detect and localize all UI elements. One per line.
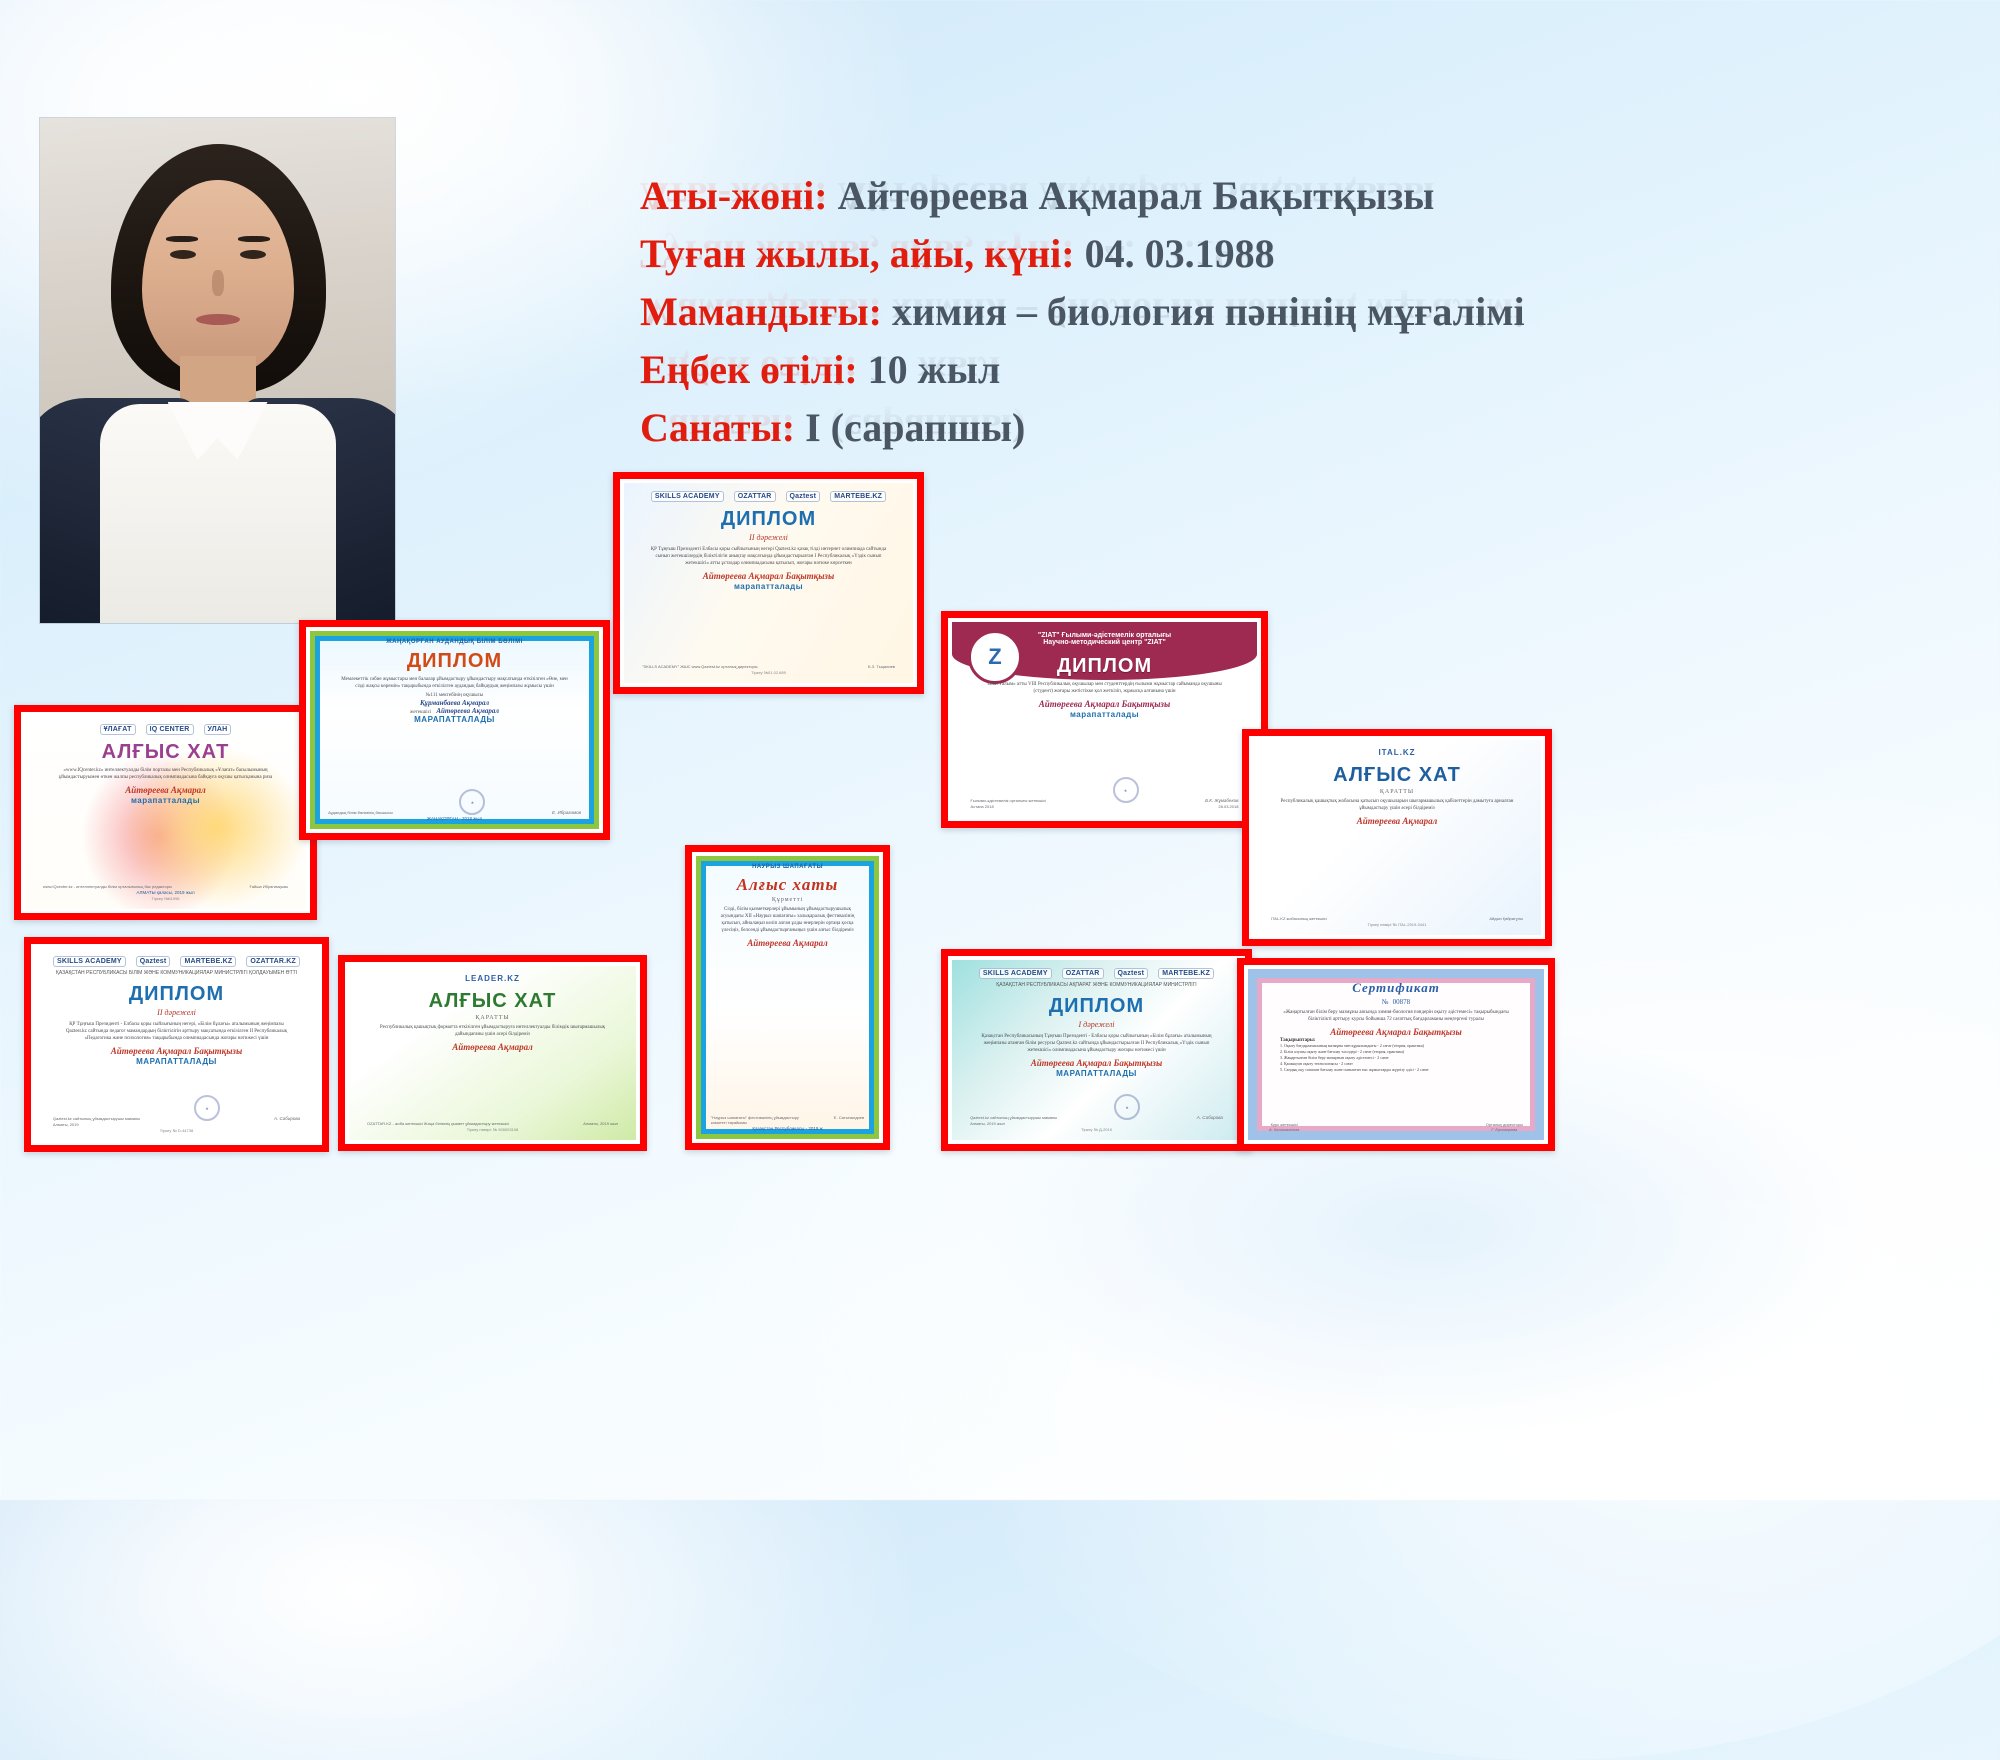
certificate-signatory-label: Аудандық білім бөлімінің басшысы [328, 810, 393, 815]
certificate-diplom-janakorgan[interactable]: ЖАҢАҚОРҒАН АУДАНДЫҚ БІЛІМ БӨЛІМІДИПЛОММе… [299, 620, 610, 840]
certificate-footer: "Наурыз шапағаты" фестивалінің ұйымдасты… [706, 1115, 869, 1131]
certificate-footer: Qaztest.kz сайтының ұйымдастырушы маманы… [45, 1095, 308, 1133]
certificate-topic-item: 5. Сандық оқу сапасын бағалау және сынып… [1280, 1067, 1429, 1073]
certificate-signatory-left: Курс жетекшісіА. Калимжанова [1269, 1122, 1299, 1132]
certificate-recipient-name: Айтөреева Ақмарал [747, 938, 828, 948]
certificate-awarded-word: марапатталады [734, 582, 803, 591]
certificate-title: ДИПЛОМ [407, 650, 502, 673]
certificate-layout: SKILLS ACADEMYQaztestMARTEBE.KZOZATTAR.K… [35, 948, 318, 1141]
certificate-sertifikat[interactable]: Сертификат№00878«Жаңартылған білім беру … [1237, 958, 1555, 1151]
certificate-body-text: Республикалық қашықтық форматта өткізілг… [375, 1024, 610, 1038]
certificate-body-text: Республикалық қашықтық жобасына қатысып … [1279, 798, 1515, 812]
certificate-content: SKILLS ACADEMYOZATTARQaztestMARTEBE.KZДИ… [624, 483, 913, 683]
certificate-footer-left: www.IQcenter.kz - интеллектуалды білім о… [43, 884, 172, 889]
teacher-portrait-photo [40, 118, 395, 623]
certificate-footer: OZATTAR.KZ - жоба жетекшісі Жаңа білімні… [359, 1121, 626, 1132]
certificate-footer-left: "SKILLS ACADEMY" ЖШС www.Qaztest.kz орта… [642, 664, 757, 669]
certificate-header-line: ЖАҢАҚОРҒАН АУДАНДЫҚ БІЛІМ БӨЛІМІ [386, 639, 522, 645]
certificate-leader-row: жетекшісіАйтөреева Ақмарал [410, 707, 499, 715]
logo-ozattar: OZATTAR [734, 491, 776, 502]
certificate-footer-right: 28.03.2018 [1218, 804, 1238, 809]
info-value-5: I (сарапшы) [805, 405, 1025, 450]
certificate-footer-row: www.IQcenter.kz - интеллектуалды білім о… [43, 884, 288, 889]
certificate-recipient-name: Айтөреева Ақмарал Бақытқызы [1330, 1027, 1461, 1037]
logo-skills-academy: SKILLS ACADEMY [979, 968, 1052, 979]
logo-ital-kz: ITAL.KZ [1378, 748, 1415, 757]
certificate-serial-number: Тіркеу нөмірі № ITAL-2019-0441 [1368, 922, 1427, 927]
certificate-awarded-word: МАРАПАТТАЛАДЫ [136, 1057, 217, 1066]
info-label-5: Санаты: [640, 405, 795, 450]
certificate-recipient-name: Айтөреева Ақмарал Бақытқызы [111, 1046, 242, 1056]
certificate-recipient-name: Айтөреева Ақмарал Бақытқызы [1031, 1058, 1162, 1068]
certificate-footer-right: Алматы, 2019 жыл [583, 1121, 618, 1126]
certificate-content: ҰЛАҒАТIQ CENTERУЛАНАЛҒЫС ХАТ«www.IQcente… [25, 716, 306, 909]
certificate-body-text: «www.IQcenter.kz» интеллектуалды білім п… [51, 767, 281, 781]
certificate-footer-left: Алматы, 2019 жыл [970, 1121, 1005, 1126]
certificate-footer-left: "Наурыз шапағаты" фестивалінің ұйымдасты… [711, 1115, 806, 1125]
certificate-body-text: Қазақстан Республикасының Тұңғыш Президе… [978, 1033, 1215, 1054]
certificate-footer: Ғылыми-әдістемелік орталығы жетекшісі★Б.… [962, 777, 1247, 809]
certificate-subtitle: Құрметті [772, 897, 803, 903]
logo-qaztest: Qaztest [136, 956, 171, 967]
certificate-number-value: 00878 [1393, 998, 1411, 1006]
certificate-signatory-name: Б.К. Жұмабеков [1205, 798, 1238, 803]
certificate-ministry-line: ҚАЗАҚСТАН РЕСПУБЛИКАСЫ БІЛІМ ЖӘНЕ КОММУН… [56, 970, 297, 977]
certificate-algys-khat-iqcenter[interactable]: ҰЛАҒАТIQ CENTERУЛАНАЛҒЫС ХАТ«www.IQcente… [14, 705, 317, 920]
certificate-subtitle: ҚАРАТТЫ [475, 1015, 509, 1021]
official-seal-icon: ★ [459, 789, 485, 815]
certificate-layout: SKILLS ACADEMYOZATTARQaztestMARTEBE.KZҚА… [952, 960, 1241, 1140]
certificate-diplom-skills-academy-ii-bottom[interactable]: SKILLS ACADEMYQaztestMARTEBE.KZOZATTAR.K… [24, 937, 329, 1152]
certificate-signatory-label: Qaztest.kz сайтының ұйымдастырушы маманы [970, 1115, 1057, 1120]
certificate-layout: НАУРЫЗ ШАПАҒАТЫАлғыс хатыҚұрметтіСізді, … [696, 856, 879, 1139]
certificate-footer: Курс жетекшісіА. КалимжановаОрталық дире… [1258, 1122, 1534, 1132]
certificate-recipient-name: Айтөреева Ақмарал Бақытқызы [703, 571, 834, 581]
certificate-serial-number: Тіркеу нөмірі: № 928003108 [467, 1127, 518, 1132]
certificate-layout: "ZIAT" Ғылыми-әдістемелік орталығыНаучно… [952, 622, 1257, 817]
info-line-5: Санаты: I (сарапшы)Санаты: I (сарапшы) [640, 402, 1980, 454]
certificate-content: LEADER.KZАЛҒЫС ХАТҚАРАТТЫРеспубликалық қ… [349, 966, 636, 1140]
logo-ozattar: OZATTAR [1062, 968, 1104, 979]
certificate-recipient-name: Айтөреева Ақмарал [452, 1042, 533, 1052]
certificate-title: АЛҒЫС ХАТ [1333, 764, 1461, 787]
certificate-footer-row: Алматы, 2019 жыл [970, 1121, 1223, 1126]
logo-leader-kz: LEADER.KZ [465, 974, 520, 983]
certificate-topic-list: 1. Оқыту бағдарламасының мазмұны мен құр… [1280, 1043, 1429, 1073]
certificate-serial-number: Тіркеу №61996 [151, 896, 179, 901]
certificate-signature-row: Qaztest.kz сайтының ұйымдастырушы маманы… [53, 1095, 300, 1121]
official-seal-icon: ★ [1113, 777, 1139, 803]
certificate-title: ДИПЛОМ [1049, 995, 1144, 1018]
certificate-signatory-right: Орталық директорыГ. Ерназарова [1486, 1122, 1523, 1132]
certificate-body-text: «Жаңартылған білім беру мазмұны аясында … [1275, 1009, 1518, 1023]
logo-martebe-kz: MARTEBE.KZ [180, 956, 236, 967]
certificate-footer: www.IQcenter.kz - интеллектуалды білім о… [35, 884, 296, 901]
certificate-title: ДИПЛОМ [1057, 655, 1152, 678]
certificate-degree: I дәрежелі [1078, 1020, 1114, 1029]
certificate-awarded-word: МАРАПАТТАЛАДЫ [1056, 1069, 1137, 1078]
certificate-title: ДИПЛОМ [721, 508, 816, 531]
certificate-serial-number: Тіркеу № Д-2019 [1081, 1127, 1112, 1132]
logo-ozattar-kz: OZATTAR.KZ [246, 956, 300, 967]
certificate-recipient-name: Айтөреева Ақмарал Бақытқызы [1039, 699, 1170, 709]
certificate-recipient-name: Айтөреева Ақмарал [1357, 816, 1438, 826]
certificate-content: Сертификат№00878«Жаңартылған білім беру … [1248, 969, 1544, 1140]
certificate-content: ЖАҢАҚОРҒАН АУДАНДЫҚ БІЛІМ БӨЛІМІДИПЛОММе… [310, 631, 599, 829]
certificate-signatory-name: А. Сабирова [274, 1116, 300, 1121]
certificate-footer: ITAL.KZ жобасының жетекшісіАйдын Қайратұ… [1263, 916, 1531, 927]
certificate-header-ru: Научно-методический центр "ZIAT" [1043, 639, 1166, 646]
certificate-signature-row-dual: Курс жетекшісіА. КалимжановаОрталық дире… [1269, 1122, 1523, 1132]
info-value-2: 04. 03.1988 [1085, 231, 1275, 276]
certificate-logo-strip: SKILLS ACADEMYOZATTARQaztestMARTEBE.KZ [979, 968, 1214, 979]
certificate-layout: ЖАҢАҚОРҒАН АУДАНДЫҚ БІЛІМ БӨЛІМІДИПЛОММе… [310, 631, 599, 829]
certificate-body-text: ҚР Тұңғыш Президенті - Елбасы қоры сыйлы… [61, 1021, 292, 1042]
info-line-2: Туған жылы, айы, күні: 04. 03.1988Туған … [640, 228, 1980, 280]
certificate-signature-row: Ғылыми-әдістемелік орталығы жетекшісі★Б.… [971, 777, 1239, 803]
certificate-body-text: ҚР Тұңғыш Президенті Елбасы қоры сыйлығы… [650, 546, 887, 567]
logo-iq-center: IQ CENTER [146, 724, 194, 735]
certificate-degree: II дәрежелі [749, 533, 788, 542]
certificate-subtitle: ҚАРАТТЫ [1380, 789, 1414, 795]
certificate-footer-row: OZATTAR.KZ - жоба жетекшісі Жаңа білімні… [367, 1121, 618, 1126]
certificate-logo-strip: SKILLS ACADEMYOZATTARQaztestMARTEBE.KZ [651, 491, 886, 502]
certificate-body-text: «Жас ғалым» атты VIII Республикалық оқуш… [979, 681, 1230, 695]
info-line-1: Аты-жөні: Айтөреева Ақмарал БақытқызыАты… [640, 170, 1980, 222]
certificate-layout: SKILLS ACADEMYOZATTARQaztestMARTEBE.KZДИ… [624, 483, 913, 683]
info-value-4: 10 жыл [868, 347, 1001, 392]
certificate-signatory-label: Qaztest.kz сайтының ұйымдастырушы маманы [53, 1116, 140, 1121]
info-line-4: Еңбек өтілі: 10 жылЕңбек өтілі: 10 жыл [640, 344, 1980, 396]
certificate-footer-row: "Наурыз шапағаты" фестивалінің ұйымдасты… [711, 1115, 864, 1125]
certificate-diplom-skills-academy-i[interactable]: SKILLS ACADEMYOZATTARQaztestMARTEBE.KZҚА… [941, 949, 1252, 1151]
certificate-title: Алғыс хаты [737, 875, 839, 895]
certificate-title: АЛҒЫС ХАТ [102, 741, 230, 764]
certificate-footer-left: Алматы, 2019 [53, 1122, 79, 1127]
info-line-3: Мамандығы: химия – биология пәнінің мұға… [640, 286, 1980, 338]
info-label-3: Мамандығы: [640, 289, 882, 334]
official-seal-icon: ★ [194, 1095, 220, 1121]
certificate-content: ITAL.KZАЛҒЫС ХАТҚАРАТТЫРеспубликалық қаш… [1253, 740, 1541, 935]
info-label-4: Еңбек өтілі: [640, 347, 858, 392]
logo-qaztest: Qaztest [1114, 968, 1149, 979]
certificate-awarded-word: МАРАПАТТАЛАДЫ [414, 715, 495, 724]
certificate-footer: Аудандық білім бөлімінің басшысы★Е. Ибра… [320, 789, 589, 821]
certificate-layout: ҰЛАҒАТIQ CENTERУЛАНАЛҒЫС ХАТ«www.IQcente… [25, 716, 306, 909]
certificate-title: АЛҒЫС ХАТ [429, 990, 557, 1013]
certificate-degree: II дәрежелі [157, 1008, 196, 1017]
info-value-1: Айтөреева Ақмарал Бақытқызы [838, 173, 1435, 218]
certificate-body-text: Мемлекеттік сәбие жұмыстары мен балалар … [336, 676, 573, 690]
logo--: УЛАН [204, 724, 232, 735]
certificate-recipient-name: Айтөреева Ақмарал [125, 785, 206, 795]
certificate-algys-khaty-nauryz-shapagaty[interactable]: НАУРЫЗ ШАПАҒАТЫАлғыс хатыҚұрметтіСізді, … [685, 845, 890, 1150]
certificate-algys-khat-leader-kz[interactable]: LEADER.KZАЛҒЫС ХАТҚАРАТТЫРеспубликалық қ… [338, 955, 647, 1151]
certificate-diplom-ziat[interactable]: Z"ZIAT" Ғылыми-әдістемелік орталығыНаучн… [941, 611, 1268, 828]
certificate-signatory-label: Ғылыми-әдістемелік орталығы жетекшісі [971, 798, 1047, 803]
certificate-layout: Сертификат№00878«Жаңартылған білім беру … [1248, 969, 1544, 1140]
certificate-layout: LEADER.KZАЛҒЫС ХАТҚАРАТТЫРеспубликалық қ… [349, 966, 636, 1140]
certificate-footer-center: ЖАҢАҚОРҒАН - 2018 жыл [427, 816, 482, 821]
logo-skills-academy: SKILLS ACADEMY [53, 956, 126, 967]
certificate-header-kk: "ZIAT" Ғылыми-әдістемелік орталығы [1038, 632, 1171, 639]
logo-martebe-kz: MARTEBE.KZ [1158, 968, 1214, 979]
certificate-footer-left: OZATTAR.KZ - жоба жетекшісі Жаңа білімні… [367, 1121, 509, 1126]
certificate-ministry-line: ҚАЗАҚСТАН РЕСПУБЛИКАСЫ АҚПАРАТ ЖӘНЕ КОММ… [996, 982, 1196, 989]
certificate-diplom-skills-academy-ii[interactable]: SKILLS ACADEMYOZATTARQaztestMARTEBE.KZДИ… [613, 472, 924, 694]
certificate-header-line: НАУРЫЗ ШАПАҒАТЫ [752, 864, 823, 870]
certificate-footer: "SKILLS ACADEMY" ЖШС www.Qaztest.kz орта… [634, 664, 903, 675]
logo--: ҰЛАҒАТ [100, 724, 136, 735]
certificate-field-school: №111 мектебінің оқушысы [426, 692, 483, 699]
certificate-footer-row: Астана 201828.03.2018 [971, 804, 1239, 809]
certificate-signatory-left-name: А. Калимжанова [1269, 1127, 1299, 1132]
certificate-logo-strip: SKILLS ACADEMYQaztestMARTEBE.KZOZATTAR.K… [53, 956, 300, 967]
certificate-footer-right: Е. Сатыпалдиев [834, 1115, 864, 1125]
certificate-signatory-name: А. Сабирова [1197, 1115, 1223, 1120]
certificate-footer-row: ITAL.KZ жобасының жетекшісіАйдын Қайратұ… [1271, 916, 1523, 921]
certificate-serial-number: Тіркеу № D-44738 [160, 1128, 193, 1133]
certificate-content: SKILLS ACADEMYOZATTARQaztestMARTEBE.KZҚА… [952, 960, 1241, 1140]
certificate-footer-center: АЛМАТЫ қаласы, 2019 жыл [136, 890, 194, 895]
certificate-footer-right: Айдын Қайратұлы [1489, 916, 1523, 921]
certificate-signatory-name: Е. Ибрагимов [552, 810, 581, 815]
certificate-content: SKILLS ACADEMYQaztestMARTEBE.KZOZATTAR.K… [35, 948, 318, 1141]
certificate-footer-right: Ғайша Ибрагимқызы [250, 884, 289, 889]
certificate-awarded-word: марапатталады [131, 796, 200, 805]
certificate-serial-number: Тіркеу №01.02.689 [751, 670, 786, 675]
certificate-content: Z"ZIAT" Ғылыми-әдістемелік орталығыНаучн… [952, 622, 1257, 817]
logo-skills-academy: SKILLS ACADEMY [651, 491, 724, 502]
info-value-3: химия – биология пәнінің мұғалімі [892, 289, 1525, 334]
teacher-info-block: Аты-жөні: Айтөреева Ақмарал БақытқызыАты… [640, 170, 1980, 460]
certificate-footer-row: Алматы, 2019 [53, 1122, 300, 1127]
certificate-footer-left: Астана 2018 [971, 804, 994, 809]
logo-qaztest: Qaztest [786, 491, 821, 502]
certificate-field-name: Құрманбаева Ақмарал [420, 699, 489, 707]
certificate-leader-name: Айтөреева Ақмарал [436, 707, 499, 715]
certificate-footer-right: Б.З. Тыңалиев [868, 664, 895, 669]
certificate-footer-left: ITAL.KZ жобасының жетекшісі [1271, 916, 1327, 921]
certificate-awarded-word: марапатталады [1070, 710, 1139, 719]
info-label-2: Туған жылы, айы, күні: [640, 231, 1075, 276]
certificate-signature-row: Qaztest.kz сайтының ұйымдастырушы маманы… [970, 1094, 1223, 1120]
certificate-footer-row: "SKILLS ACADEMY" ЖШС www.Qaztest.kz орта… [642, 664, 895, 669]
certificate-footer: Qaztest.kz сайтының ұйымдастырушы маманы… [962, 1094, 1231, 1132]
certificate-algys-khat-ital-kz[interactable]: ITAL.KZАЛҒЫС ХАТҚАРАТТЫРеспубликалық қаш… [1242, 729, 1552, 946]
certificate-footer-center: Қазақстан Республикасы - 2019 ж [752, 1126, 822, 1131]
certificate-content: НАУРЫЗ ШАПАҒАТЫАлғыс хатыҚұрметтіСізді, … [696, 856, 879, 1139]
certificate-signatory-right-name: Г. Ерназарова [1486, 1127, 1523, 1132]
certificate-body-text: Сізді, білім қызметкерлері ұйымының ұйым… [716, 906, 859, 934]
certificate-number-label: № [1382, 998, 1389, 1006]
certificate-number-row: №00878 [1382, 998, 1410, 1006]
info-label-1: Аты-жөні: [640, 173, 828, 218]
certificate-signature-row: Аудандық білім бөлімінің басшысы★Е. Ибра… [328, 789, 581, 815]
official-seal-icon: ★ [1114, 1094, 1140, 1120]
certificate-layout: ITAL.KZАЛҒЫС ХАТҚАРАТТЫРеспубликалық қаш… [1253, 740, 1541, 935]
certificate-logo-strip: ҰЛАҒАТIQ CENTERУЛАН [100, 724, 232, 735]
logo-martebe-kz: MARTEBE.KZ [830, 491, 886, 502]
certificate-title: Сертификат [1352, 980, 1440, 996]
certificate-title: ДИПЛОМ [129, 983, 224, 1006]
